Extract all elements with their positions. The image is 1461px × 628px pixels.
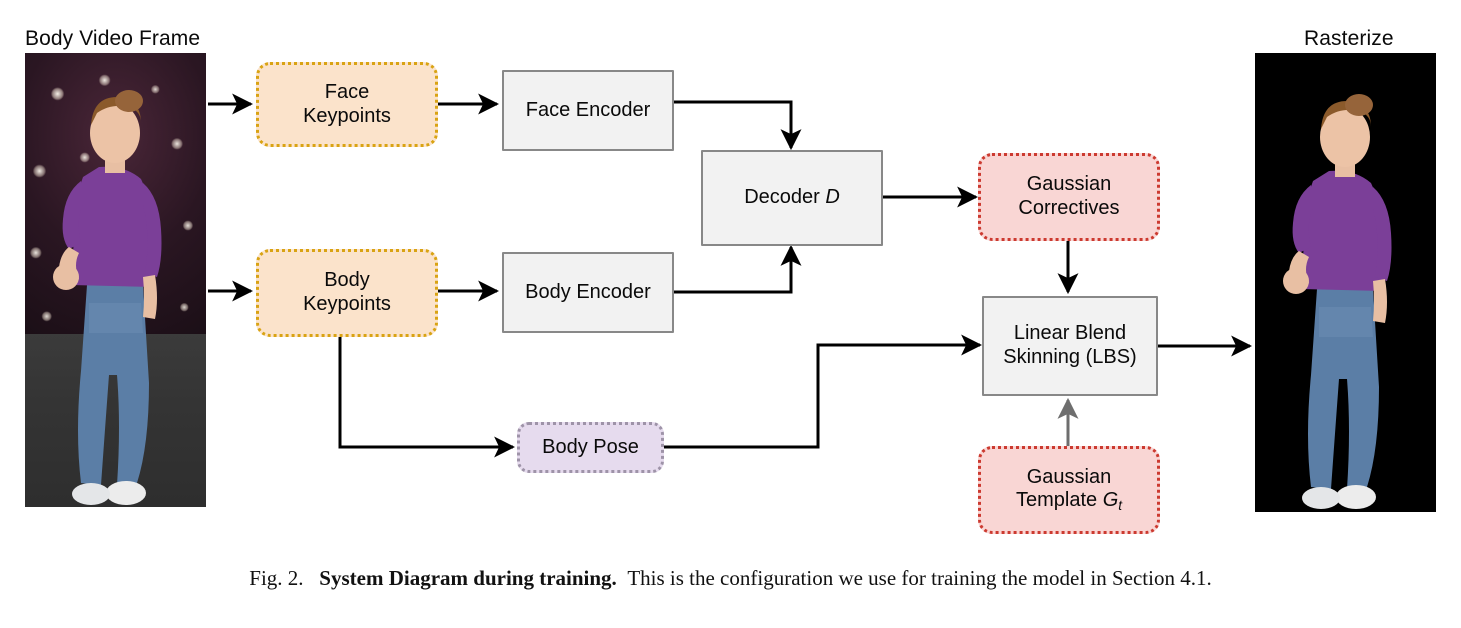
figure-page: Body Video Frame Ras [0, 0, 1461, 628]
body-video-frame-label: Body Video Frame [25, 28, 200, 49]
edge-face-encoder-to-decoder [674, 102, 791, 148]
edge-body-encoder-to-decoder [674, 247, 791, 292]
node-gaussian-template-label: Gaussian Template Gt [1016, 466, 1122, 514]
node-decoder[interactable]: Decoder D [701, 150, 883, 246]
node-decoder-label: Decoder D [744, 186, 840, 210]
caption-title: System Diagram during training. [319, 566, 617, 590]
node-body-encoder[interactable]: Body Encoder [502, 252, 674, 333]
node-face-keypoints[interactable]: Face Keypoints [256, 62, 438, 147]
caption-figure-number: Fig. 2. [249, 566, 303, 590]
node-gaussian-correctives[interactable]: Gaussian Correctives [978, 153, 1160, 241]
rasterized-avatar [1255, 53, 1436, 512]
connector-layer [0, 0, 1461, 628]
node-face-keypoints-label: Face Keypoints [303, 81, 391, 128]
node-face-encoder-label: Face Encoder [526, 99, 651, 123]
caption-body: This is the configuration we use for tra… [627, 566, 1211, 590]
node-body-pose[interactable]: Body Pose [517, 422, 664, 473]
performer-silhouette [25, 53, 206, 507]
node-body-keypoints-label: Body Keypoints [303, 269, 391, 316]
node-linear-blend-skinning[interactable]: Linear Blend Skinning (LBS) [982, 296, 1158, 396]
rasterized-output-image [1255, 53, 1436, 512]
node-linear-blend-skinning-label: Linear Blend Skinning (LBS) [1003, 322, 1136, 369]
edge-body-keypoints-to-body-pose [340, 337, 513, 447]
edge-body-pose-to-lbs [664, 345, 980, 447]
body-video-frame-image [25, 53, 206, 507]
node-body-keypoints[interactable]: Body Keypoints [256, 249, 438, 337]
rasterize-label: Rasterize [1304, 28, 1394, 49]
node-gaussian-template[interactable]: Gaussian Template Gt [978, 446, 1160, 534]
node-face-encoder[interactable]: Face Encoder [502, 70, 674, 151]
node-body-encoder-label: Body Encoder [525, 281, 651, 305]
figure-caption: Fig. 2. System Diagram during training. … [0, 566, 1461, 591]
node-gaussian-correctives-label: Gaussian Correctives [1018, 173, 1119, 220]
node-body-pose-label: Body Pose [542, 436, 639, 460]
